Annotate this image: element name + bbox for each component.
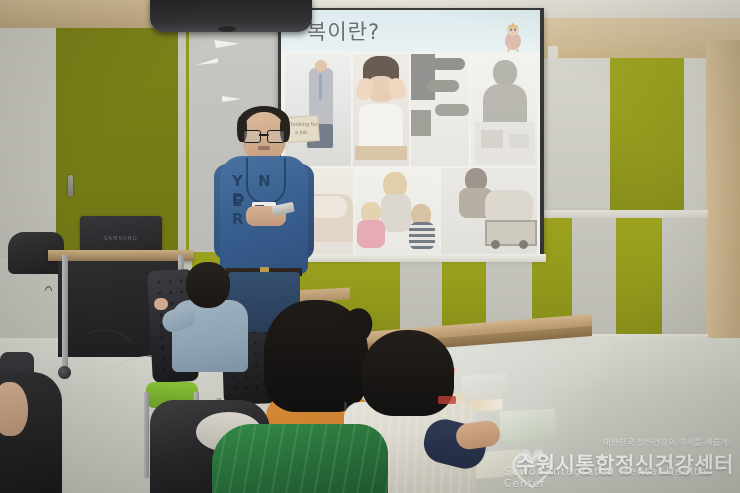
collar-accent xyxy=(438,396,456,404)
child-in-blue-hoodie xyxy=(168,262,250,382)
quilting-texture xyxy=(212,424,388,493)
wall-panel-white-4 xyxy=(684,58,706,212)
classroom-photo: 복이란? looking for a job xyxy=(0,0,740,493)
podium-tabletop xyxy=(48,250,194,261)
slide-photo-cart-pusher xyxy=(441,168,537,255)
chair-leg xyxy=(144,392,149,478)
podium-leg xyxy=(62,255,68,367)
craft-kit-packet[interactable] xyxy=(499,409,556,442)
wall-panel-white-d xyxy=(662,218,706,348)
slide-photo-pointing-fingers xyxy=(411,54,469,166)
projector-lens-icon xyxy=(218,26,236,32)
slide-title: 복이란? xyxy=(307,16,380,46)
green-puffer-jacket xyxy=(212,424,388,493)
lanyard xyxy=(246,158,286,204)
door-handle-icon[interactable] xyxy=(68,175,73,197)
wall-panel-white-1 xyxy=(0,28,56,258)
child-in-green-puffer-jacket xyxy=(212,418,392,493)
wall-panel-yellow-door[interactable] xyxy=(610,58,684,212)
wall-panel-white-3 xyxy=(548,58,610,208)
projection-screen-bottom-bar xyxy=(278,254,546,262)
wall-panel-yellow-d xyxy=(616,218,662,348)
projection-screen: 복이란? looking for a job xyxy=(281,10,540,255)
wall-corner-wood xyxy=(706,40,740,340)
presenter-mouth xyxy=(258,146,270,150)
slide-photo-stressed-man xyxy=(353,54,409,166)
child-hand xyxy=(154,298,168,310)
glasses-icon xyxy=(243,130,285,141)
laptop-brand-label: SAMSUNG xyxy=(80,236,162,242)
chicken-mascot-icon xyxy=(500,22,526,52)
child-head xyxy=(186,262,230,308)
slide-photo-isolated-person xyxy=(471,54,537,166)
slide-photo-mother-and-children xyxy=(355,168,439,255)
podium-caster xyxy=(58,366,71,379)
